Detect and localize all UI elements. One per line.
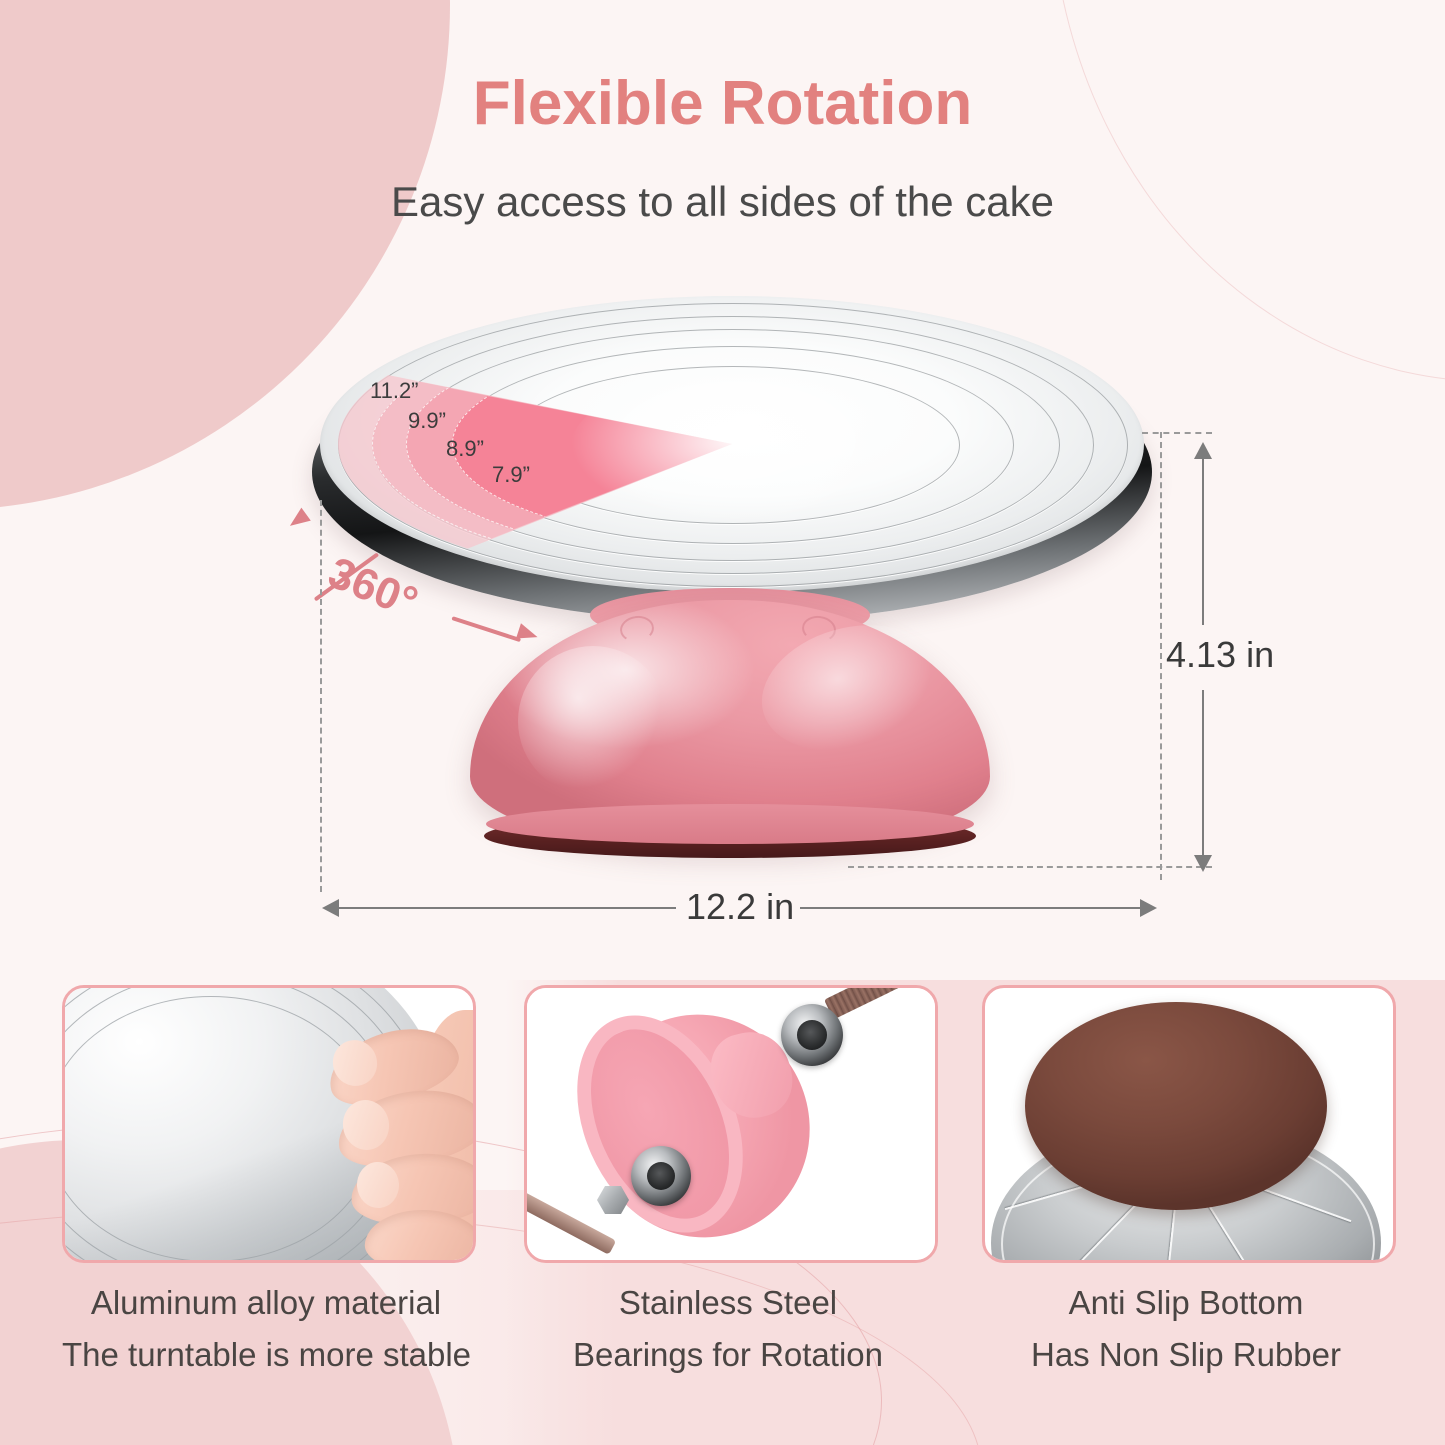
height-line-bottom [1202, 690, 1204, 858]
hero-product-illustration: 11.2” 9.9” 8.9” 7.9” 360° 4.1 [0, 0, 1445, 980]
turntable-base [470, 600, 990, 862]
size-label-11-2: 11.2” [370, 378, 419, 404]
size-label-7-9: 7.9” [492, 462, 530, 488]
caption-line-1: Aluminum alloy material [62, 1277, 470, 1329]
height-dimension-label: 4.13 in [1166, 634, 1274, 676]
caption-line-1: Stainless Steel [524, 1277, 932, 1329]
height-line-top [1202, 455, 1204, 625]
turntable-plate: 11.2” 9.9” 8.9” 7.9” [312, 296, 1152, 626]
width-line-right [800, 907, 1140, 909]
size-label-8-9: 8.9” [446, 436, 484, 462]
width-arrow-right [1140, 899, 1157, 917]
caption-line-1: Anti Slip Bottom [982, 1277, 1390, 1329]
width-line-left [338, 907, 676, 909]
brown-rubber-pad [1025, 1002, 1327, 1210]
guide-line-bottom-right [848, 866, 1212, 868]
plate-top-surface [320, 296, 1144, 592]
guide-line-top-right [1142, 432, 1212, 434]
height-arrow-bottom [1194, 855, 1212, 872]
feature-caption-aluminum-alloy: Aluminum alloy material The turntable is… [62, 1277, 470, 1381]
rotation-arrow-left-head [285, 508, 311, 533]
guide-line-right [1160, 432, 1162, 880]
feature-panel-anti-slip-bottom[interactable] [982, 985, 1396, 1263]
feature-panel-stainless-bearings[interactable] [524, 985, 938, 1263]
product-infographic: Flexible Rotation Easy access to all sid… [0, 0, 1445, 1445]
feature-panel-aluminum-alloy[interactable] [62, 985, 476, 1263]
base-highlight-left [518, 646, 668, 796]
width-arrow-left [322, 899, 339, 917]
feature-caption-stainless-bearings: Stainless Steel Bearings for Rotation [524, 1277, 932, 1381]
caption-line-2: The turntable is more stable [62, 1329, 470, 1381]
size-label-9-9: 9.9” [408, 408, 446, 434]
steel-bearing-bottom [631, 1146, 691, 1206]
feature-caption-anti-slip-bottom: Anti Slip Bottom Has Non Slip Rubber [982, 1277, 1390, 1381]
width-dimension-label: 12.2 in [686, 886, 794, 928]
feature-panels: Aluminum alloy material The turntable is… [0, 985, 1445, 1445]
guide-line-left [320, 500, 322, 892]
plate-center-sheen [570, 374, 900, 524]
caption-line-2: Bearings for Rotation [524, 1329, 932, 1381]
steel-bearing-top [781, 1004, 843, 1066]
caption-line-2: Has Non Slip Rubber [982, 1329, 1390, 1381]
base-rubber-ring-top [486, 804, 974, 844]
